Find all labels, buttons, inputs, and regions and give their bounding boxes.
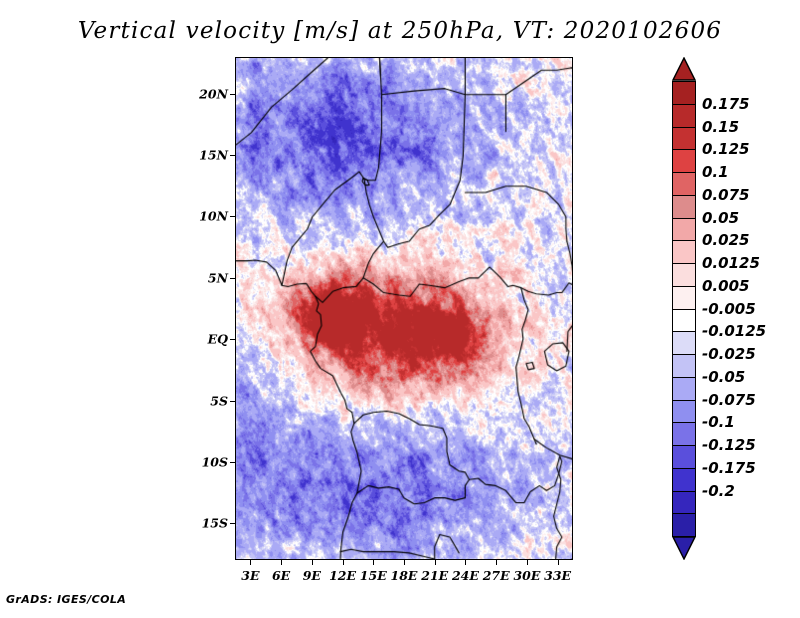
lat-tick-label: 10N [196,209,228,224]
lat-tick-mark [230,216,235,217]
lon-tick-label: 9E [303,568,321,583]
colorbar-band [672,445,696,469]
lat-tick-mark [230,523,235,524]
colorbar-band [672,286,696,310]
colorbar-band [672,331,696,355]
colorbar-tick-label: 0.0125 [702,254,760,272]
colorbar-band [672,491,696,515]
colorbar-tick-label: -0.075 [702,391,756,409]
lon-tick-mark [250,560,251,565]
lon-tick-mark [558,560,559,565]
lon-tick-label: 30E [513,568,540,583]
colorbar-tick-label: 0.025 [702,231,749,249]
lat-tick-label: 15S [196,516,228,531]
lat-tick-label: 15N [196,148,228,163]
colorbar-band [672,218,696,242]
colorbar-band [672,240,696,264]
lat-tick-label: 20N [196,86,228,101]
colorbar-tick-label: 0.15 [702,118,739,136]
lon-tick-label: 21E [421,568,448,583]
colorbar-tick-label: 0.1 [702,163,729,181]
lon-tick-label: 15E [360,568,387,583]
colorbar-tick-label: 0.075 [702,186,749,204]
lon-tick-label: 12E [329,568,356,583]
colorbar-band [672,149,696,173]
colorbar-tick-label: 0.005 [702,277,749,295]
colorbar-band [672,377,696,401]
lon-tick-mark [465,560,466,565]
lon-tick-mark [435,560,436,565]
lon-tick-label: 6E [272,568,290,583]
colorbar-cap-bottom [672,536,696,560]
colorbar-tick-label: -0.005 [702,300,756,318]
colorbar-tick-label: 0.05 [702,209,739,227]
lat-tick-label: 5N [196,270,228,285]
plot-page: Vertical velocity [m/s] at 250hPa, VT: 2… [0,0,800,618]
vertical-velocity-field [236,58,572,559]
colorbar-band [672,309,696,333]
colorbar-tick-label: -0.0125 [702,322,766,340]
lat-tick-mark [230,462,235,463]
colorbar-tick-label: -0.125 [702,436,756,454]
lat-tick-mark [230,339,235,340]
lon-tick-mark [404,560,405,565]
colorbar-band [672,172,696,196]
colorbar-band [672,354,696,378]
colorbar-tick-label: 0.175 [702,95,749,113]
colorbar-band [672,400,696,424]
colorbar [672,57,696,560]
map-panel [235,57,573,560]
colorbar-tick-label: -0.05 [702,368,745,386]
attribution-footer: GrADS: IGES/COLA [6,593,126,606]
colorbar-band [672,422,696,446]
lon-tick-mark [343,560,344,565]
lon-tick-mark [281,560,282,565]
page-title: Vertical velocity [m/s] at 250hPa, VT: 2… [0,18,800,44]
colorbar-band [672,263,696,287]
colorbar-cap-top [672,57,696,81]
colorbar-tick-label: -0.2 [702,482,735,500]
lat-tick-mark [230,94,235,95]
colorbar-tick-label: 0.125 [702,140,749,158]
lon-tick-label: 27E [483,568,510,583]
lat-tick-mark [230,278,235,279]
colorbar-band [672,195,696,219]
colorbar-band [672,127,696,151]
lat-tick-mark [230,401,235,402]
lon-tick-label: 33E [544,568,571,583]
lon-tick-mark [373,560,374,565]
colorbar-tick-label: -0.175 [702,459,756,477]
lon-tick-label: 18E [391,568,418,583]
lat-tick-label: EQ [196,332,228,347]
colorbar-band [672,513,696,537]
colorbar-band [672,81,696,105]
lat-tick-label: 5S [196,393,228,408]
lon-tick-mark [496,560,497,565]
colorbar-tick-label: -0.025 [702,345,756,363]
lon-tick-mark [312,560,313,565]
lat-tick-mark [230,155,235,156]
colorbar-band [672,468,696,492]
colorbar-tick-label: -0.1 [702,413,735,431]
lon-tick-label: 3E [241,568,259,583]
lon-tick-mark [527,560,528,565]
colorbar-band [672,104,696,128]
lat-tick-label: 10S [196,454,228,469]
lon-tick-label: 24E [452,568,479,583]
